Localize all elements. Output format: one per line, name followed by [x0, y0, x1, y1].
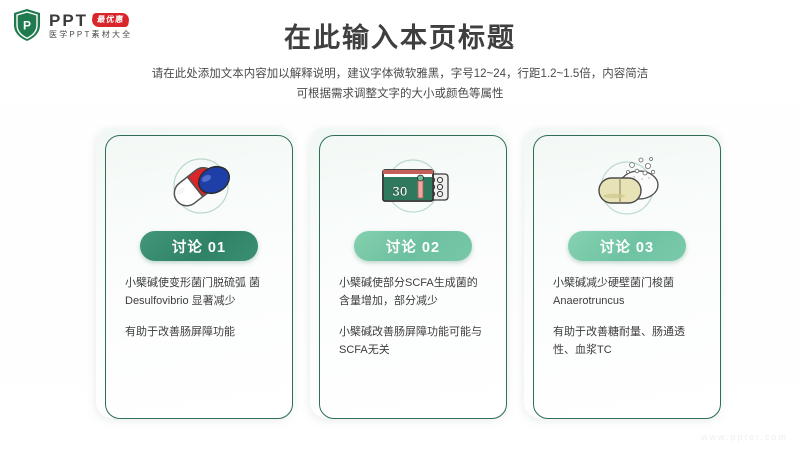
card-badge-1[interactable]: 讨论 01	[140, 231, 258, 261]
card-content: 讨论 01 小檗碱使变形菌门脱硫弧 菌 Desulfovibrio 显著减少 有…	[105, 135, 293, 419]
svg-text:30: 30	[392, 183, 408, 199]
card-paragraph: 小檗碱使变形菌门脱硫弧 菌 Desulfovibrio 显著减少	[119, 274, 279, 310]
card-badge-2[interactable]: 讨论 02	[354, 231, 472, 261]
discussion-card-2[interactable]: 30 讨论 02 小檗碱使部分SCFA生成菌的含量增加，部分减少 小檗碱改善肠屏…	[310, 128, 506, 418]
discussion-card-3[interactable]: 讨论 03 小檗碱减少硬壁菌门梭菌Anaerotruncus 有助于改善糖耐量、…	[524, 128, 720, 418]
capsule-pill-icon	[156, 151, 242, 225]
card-paragraph: 有助于改善糖耐量、肠通透性、血浆TC	[547, 323, 707, 359]
card-paragraph: 小檗碱改善肠屏障功能可能与SCFA无关	[333, 323, 493, 359]
medicine-box-blister-icon: 30	[370, 151, 456, 225]
page-subtitle: 请在此处添加文本内容加以解释说明，建议字体微软雅黑，字号12~24，行距1.2~…	[90, 64, 710, 104]
card-text-block: 小檗碱减少硬壁菌门梭菌Anaerotruncus 有助于改善糖耐量、肠通透性、血…	[547, 274, 707, 360]
card-content: 讨论 03 小檗碱减少硬壁菌门梭菌Anaerotruncus 有助于改善糖耐量、…	[533, 135, 721, 419]
card-text-block: 小檗碱使变形菌门脱硫弧 菌 Desulfovibrio 显著减少 有助于改善肠屏…	[119, 274, 279, 341]
card-paragraph: 有助于改善肠屏障功能	[119, 323, 279, 341]
card-content: 30 讨论 02 小檗碱使部分SCFA生成菌的含量增加，部分减少 小檗碱改善肠屏…	[319, 135, 507, 419]
discussion-card-1[interactable]: 讨论 01 小檗碱使变形菌门脱硫弧 菌 Desulfovibrio 显著减少 有…	[96, 128, 292, 418]
site-watermark: www.ppter.com	[701, 432, 788, 442]
discussion-card-list: 讨论 01 小檗碱使变形菌门脱硫弧 菌 Desulfovibrio 显著减少 有…	[96, 128, 704, 418]
card-paragraph: 小檗碱减少硬壁菌门梭菌Anaerotruncus	[547, 274, 707, 310]
slide-canvas: P PPT 最优惠 医学PPT素材大全 在此输入本页标题 请在此处添加文本内容加…	[0, 0, 800, 450]
subtitle-line-1: 请在此处添加文本内容加以解释说明，建议字体微软雅黑，字号12~24，行距1.2~…	[90, 64, 710, 84]
card-text-block: 小檗碱使部分SCFA生成菌的含量增加，部分减少 小檗碱改善肠屏障功能可能与SCF…	[333, 274, 493, 360]
tablet-effervescent-icon	[584, 151, 670, 225]
subtitle-line-2: 可根据需求调整文字的大小或颜色等属性	[90, 84, 710, 104]
page-title: 在此输入本页标题	[0, 16, 800, 55]
card-paragraph: 小檗碱使部分SCFA生成菌的含量增加，部分减少	[333, 274, 493, 310]
card-badge-3[interactable]: 讨论 03	[568, 231, 686, 261]
